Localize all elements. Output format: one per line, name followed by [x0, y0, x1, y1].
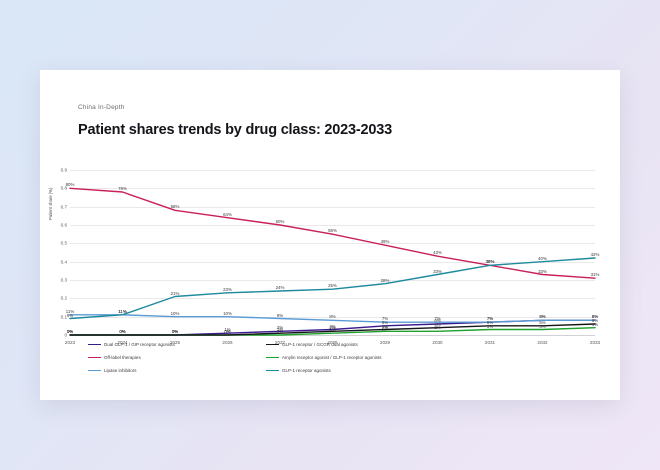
data-point-label: 4% [434, 322, 440, 327]
data-point-label: 9% [67, 313, 73, 318]
chart-legend: Dual GLP-1 / GIP receptor agonistsGLP-1 … [88, 342, 588, 381]
data-point-label: 68% [171, 204, 180, 209]
data-point-label: 40% [538, 256, 547, 261]
legend-label: Amylin receptor agonist / GLP-1 receptor… [282, 355, 382, 360]
data-point-label: 0% [119, 329, 125, 334]
data-point-label: 31% [591, 272, 600, 277]
data-point-label: 43% [433, 250, 442, 255]
data-point-label: 24% [276, 285, 285, 290]
data-point-label: 42% [591, 252, 600, 257]
data-point-label: 38% [486, 259, 495, 264]
legend-item[interactable]: GLP-1 receptor agonists [266, 368, 444, 373]
data-point-label: 8% [539, 314, 545, 319]
chart-plot-area: Patient share (%) 00.10.20.30.40.50.60.7… [70, 170, 595, 335]
legend-item[interactable]: Lipase inhibitors [88, 368, 266, 373]
y-axis-tick: 0.6 [61, 223, 67, 228]
legend-swatch [266, 344, 279, 346]
data-point-label: 8% [592, 314, 598, 319]
y-axis-tick: 0.4 [61, 259, 67, 264]
legend-item[interactable]: Amylin receptor agonist / GLP-1 receptor… [266, 355, 444, 360]
data-point-label: 10% [223, 311, 232, 316]
kicker-label: China In-Depth [78, 104, 125, 111]
series-line [70, 258, 595, 319]
y-axis-title: Patient share (%) [48, 140, 53, 220]
chart-card: China In-Depth Patient shares trends by … [40, 70, 620, 400]
data-point-label: 33% [433, 269, 442, 274]
data-point-label: 25% [328, 283, 337, 288]
legend-swatch [88, 370, 101, 372]
y-axis-tick: 0.7 [61, 204, 67, 209]
y-axis-tick: 0.3 [61, 278, 67, 283]
series-line [70, 188, 595, 278]
data-point-label: 28% [381, 278, 390, 283]
data-point-label: 80% [66, 182, 75, 187]
data-point-label: 7% [487, 316, 493, 321]
data-point-label: 0% [224, 329, 230, 334]
legend-label: GLP-1 receptor agonists [282, 368, 331, 373]
x-axis-tick: 2033 [590, 340, 600, 345]
legend-item[interactable]: Off-label therapies [88, 355, 266, 360]
legend-swatch [266, 370, 279, 372]
data-point-label: 49% [381, 239, 390, 244]
legend-item[interactable]: GLP-1 receptor / GCGR dual agonists [266, 342, 444, 347]
y-axis-tick: 0.9 [61, 168, 67, 173]
page-title: Patient shares trends by drug class: 202… [78, 122, 392, 138]
data-point-label: 8% [329, 314, 335, 319]
data-point-label: 1% [277, 327, 283, 332]
legend-item[interactable]: Dual GLP-1 / GIP receptor agonists [88, 342, 266, 347]
data-point-label: 3% [382, 324, 388, 329]
data-point-label: 64% [223, 212, 232, 217]
data-point-label: 78% [118, 186, 127, 191]
legend-swatch [88, 344, 101, 346]
data-point-label: 7% [434, 316, 440, 321]
data-point-label: 23% [223, 287, 232, 292]
data-point-label: 0% [172, 329, 178, 334]
data-point-label: 55% [328, 228, 337, 233]
data-point-label: 2% [329, 325, 335, 330]
y-axis-tick: 0.5 [61, 241, 67, 246]
data-point-label: 0% [67, 329, 73, 334]
legend-label: Dual GLP-1 / GIP receptor agonists [104, 342, 175, 347]
data-point-label: 7% [382, 316, 388, 321]
data-point-label: 9% [277, 313, 283, 318]
x-axis-tick: 2023 [65, 340, 75, 345]
data-point-label: 11% [118, 309, 126, 314]
legend-label: GLP-1 receptor / GCGR dual agonists [282, 342, 358, 347]
legend-swatch [88, 357, 101, 359]
data-point-label: 5% [539, 320, 545, 325]
legend-swatch [266, 357, 279, 359]
chart-lines [70, 170, 595, 335]
legend-label: Lipase inhibitors [104, 368, 137, 373]
y-axis-tick: 0.2 [61, 296, 67, 301]
data-point-label: 33% [538, 269, 547, 274]
data-point-label: 60% [276, 219, 285, 224]
legend-label: Off-label therapies [104, 355, 141, 360]
data-point-label: 10% [171, 311, 180, 316]
data-point-label: 21% [171, 291, 180, 296]
